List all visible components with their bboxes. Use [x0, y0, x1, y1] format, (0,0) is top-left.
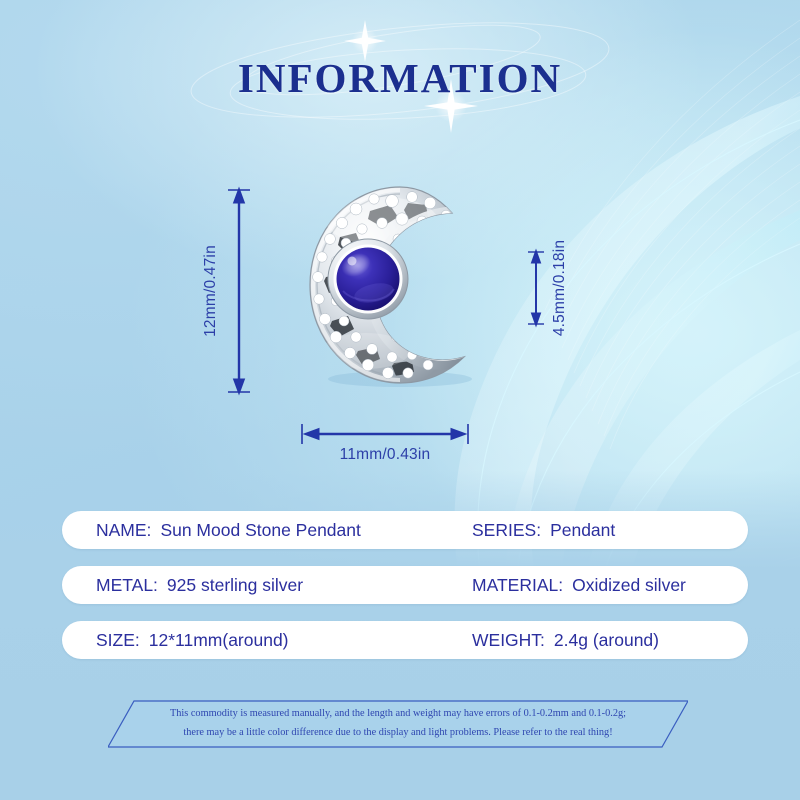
- disclaimer-line-2: there may be a little color difference d…: [148, 723, 648, 742]
- spec-field-weight: WEIGHT: 2.4g (around): [472, 621, 659, 659]
- spec-label-series: SERIES:: [472, 520, 541, 541]
- spec-row-size: SIZE: 12*11mm(around) WEIGHT: 2.4g (arou…: [62, 621, 748, 659]
- spec-value-material: Oxidized silver: [572, 575, 686, 596]
- spec-label-name: NAME:: [96, 520, 151, 541]
- spec-field-metal: METAL: 925 sterling silver: [96, 566, 303, 604]
- disclaimer-text: This commodity is measured manually, and…: [148, 704, 648, 742]
- spec-value-weight: 2.4g (around): [554, 630, 659, 651]
- dimension-label-depth: 4.5mm/0.18in: [551, 240, 569, 336]
- spec-label-metal: METAL:: [96, 575, 158, 596]
- spec-field-material: MATERIAL: Oxidized silver: [472, 566, 686, 604]
- spec-value-series: Pendant: [550, 520, 615, 541]
- spec-field-size: SIZE: 12*11mm(around): [96, 621, 289, 659]
- spec-field-name: NAME: Sun Mood Stone Pendant: [96, 511, 361, 549]
- product-image-crescent-moon-pendant: [296, 181, 504, 389]
- blue-gemstone: [328, 239, 408, 319]
- spec-field-series: SERIES: Pendant: [472, 511, 615, 549]
- dimension-arrow-height: [228, 188, 250, 394]
- spec-label-weight: WEIGHT:: [472, 630, 545, 651]
- page-title: INFORMATION: [0, 54, 800, 102]
- dimension-label-height: 12mm/0.47in: [202, 245, 220, 337]
- spec-label-material: MATERIAL:: [472, 575, 563, 596]
- spec-label-size: SIZE:: [96, 630, 140, 651]
- information-page: INFORMATION: [0, 0, 800, 800]
- specification-list: NAME: Sun Mood Stone Pendant SERIES: Pen…: [62, 511, 748, 676]
- disclaimer-line-1: This commodity is measured manually, and…: [148, 704, 648, 723]
- spec-value-metal: 925 sterling silver: [167, 575, 303, 596]
- spec-value-size: 12*11mm(around): [149, 630, 289, 651]
- disclaimer-box: This commodity is measured manually, and…: [108, 697, 688, 751]
- spec-row-metal: METAL: 925 sterling silver MATERIAL: Oxi…: [62, 566, 748, 604]
- spec-row-name: NAME: Sun Mood Stone Pendant SERIES: Pen…: [62, 511, 748, 549]
- spec-value-name: Sun Mood Stone Pendant: [160, 520, 360, 541]
- dimension-label-width: 11mm/0.43in: [340, 446, 431, 464]
